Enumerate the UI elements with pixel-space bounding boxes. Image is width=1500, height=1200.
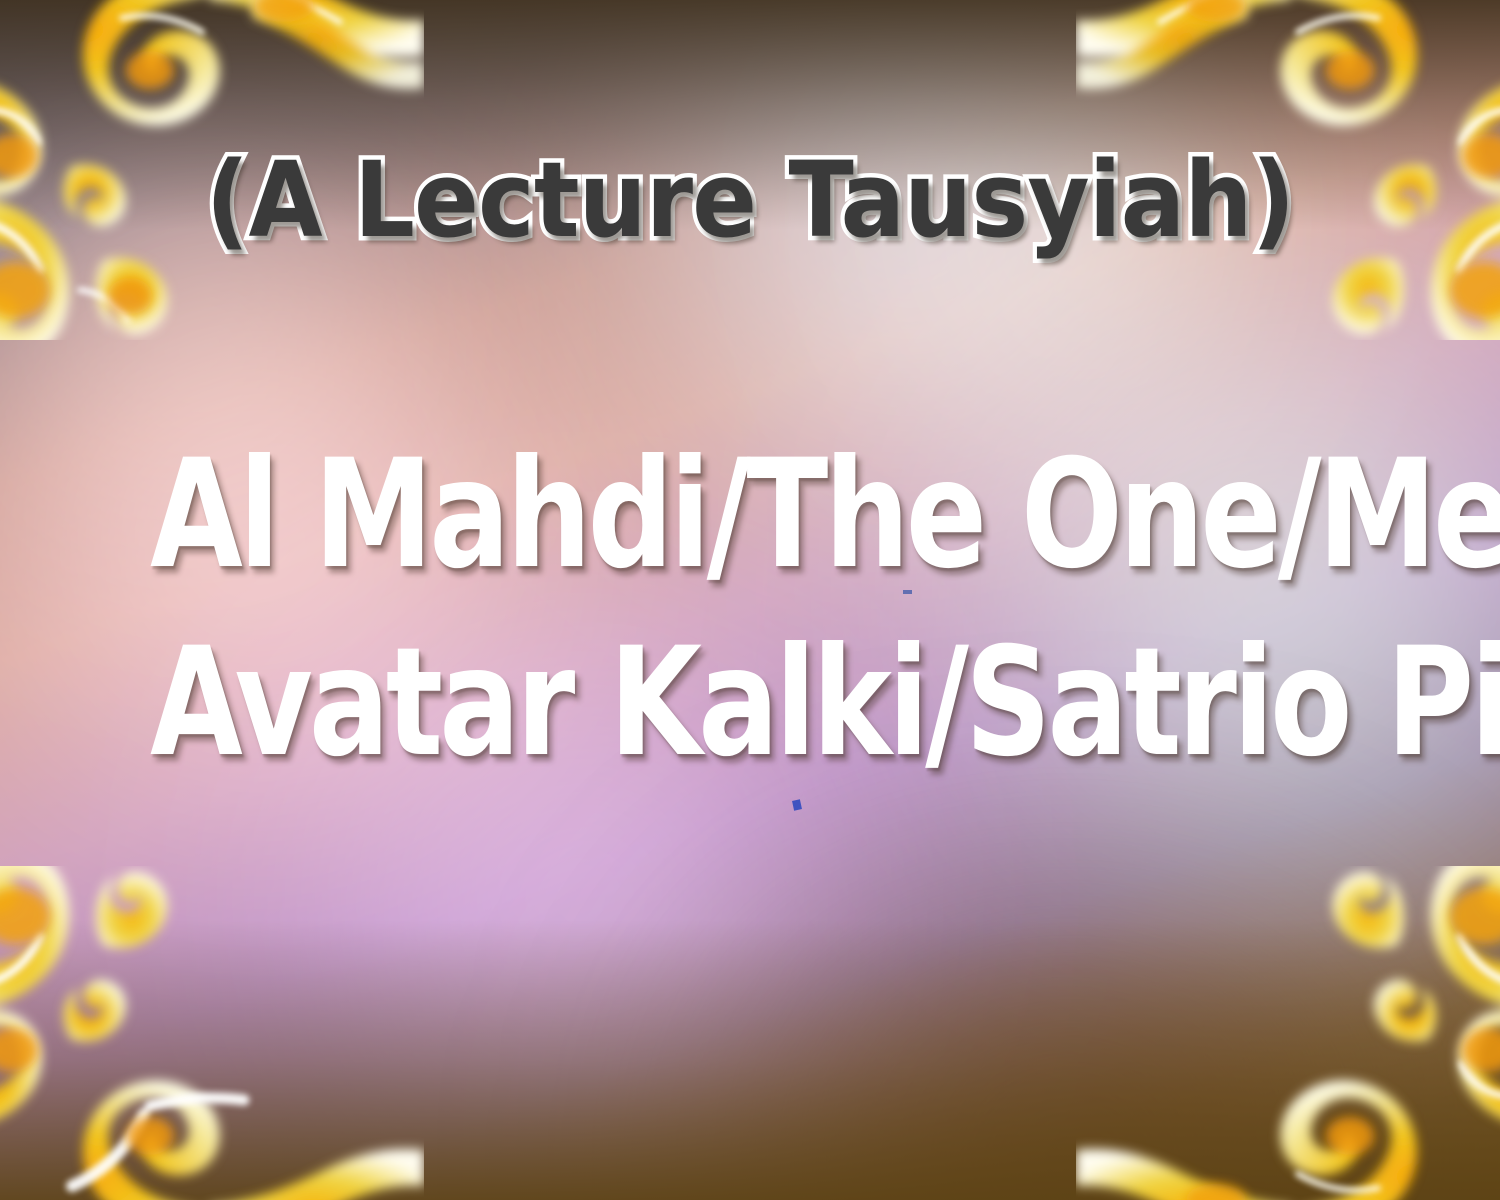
slide-subtitle: (A Lecture Tausyiah) [60, 148, 1440, 252]
slide-title-line-1: Al Mahdi/The One/Messias/ [150, 440, 1350, 590]
slide-text-block: (A Lecture Tausyiah) Al Mahdi/The One/Me… [0, 0, 1500, 1200]
slide-title-line-2: Avatar Kalki/Satrio Piningit [150, 628, 1350, 778]
title-slide: (A Lecture Tausyiah) Al Mahdi/The One/Me… [0, 0, 1500, 1200]
